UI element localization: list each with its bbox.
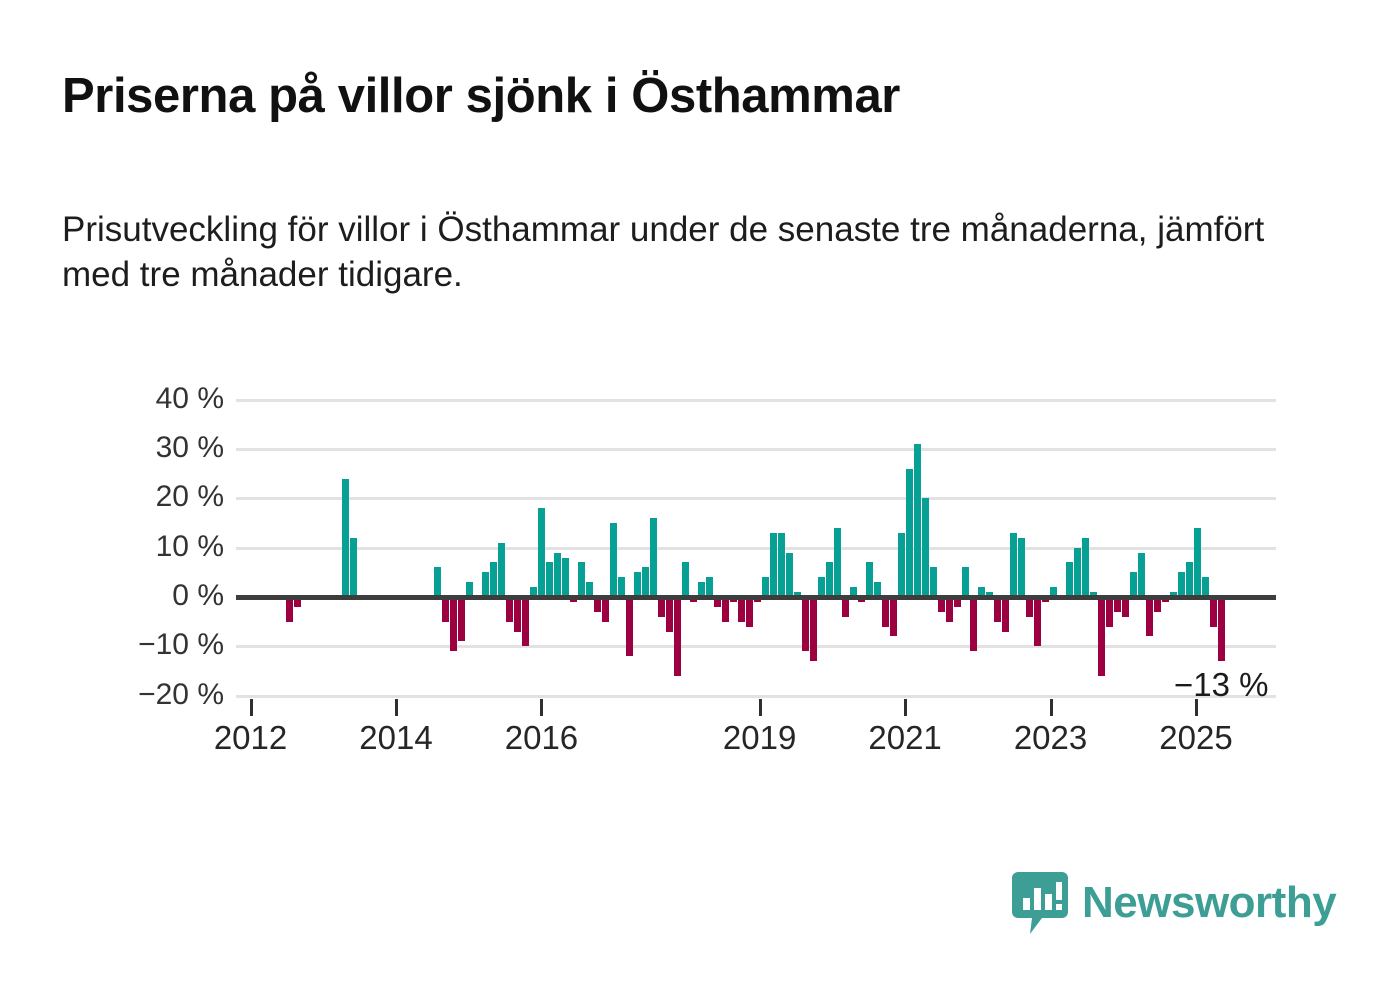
chart-bar xyxy=(482,572,489,597)
chart-bar xyxy=(1002,597,1009,632)
chart-bar xyxy=(890,597,897,636)
chart-bar xyxy=(786,553,793,597)
zero-axis-line xyxy=(236,595,1276,600)
chart-bar xyxy=(1194,528,1201,597)
chart-bar xyxy=(350,538,357,597)
chart-bar xyxy=(514,597,521,632)
chart-bar xyxy=(810,597,817,661)
chart-bar xyxy=(962,567,969,597)
chart-bar xyxy=(722,597,729,622)
chart-bar xyxy=(642,567,649,597)
chart-bar xyxy=(994,597,1001,622)
chart-canvas: Priserna på villor sjönk i Östhammar Pri… xyxy=(0,0,1382,999)
chart-bar xyxy=(554,553,561,597)
chart-bar xyxy=(650,518,657,597)
chart-bar xyxy=(490,562,497,597)
chart-bar xyxy=(506,597,513,622)
chart-bar xyxy=(746,597,753,627)
chart-bar xyxy=(1178,572,1185,597)
chart-bar xyxy=(834,528,841,597)
chart-bar xyxy=(930,567,937,597)
last-value-annotation: −13 % xyxy=(1174,666,1269,704)
chart-bar xyxy=(1138,553,1145,597)
chart-bar xyxy=(946,597,953,622)
chart-bar xyxy=(914,444,921,597)
chart-bar xyxy=(866,562,873,597)
chart-bar xyxy=(1130,572,1137,597)
chart-bar xyxy=(1218,597,1225,661)
chart-bar xyxy=(546,562,553,597)
chart-bar xyxy=(738,597,745,622)
chart-bar xyxy=(634,572,641,597)
chart-bar xyxy=(1146,597,1153,636)
chart-bar xyxy=(610,523,617,597)
chart-bar xyxy=(1018,538,1025,597)
chart-bar xyxy=(1010,533,1017,597)
chart-bar xyxy=(1074,548,1081,597)
chart-bar xyxy=(1034,597,1041,646)
chart-bar xyxy=(1186,562,1193,597)
plot-area: 40 %30 %20 %10 %0 %−10 %−20 % 2012201420… xyxy=(0,0,1382,999)
chart-bar xyxy=(286,597,293,622)
chart-bar xyxy=(522,597,529,646)
chart-bar xyxy=(922,498,929,597)
chart-bar xyxy=(626,597,633,656)
chart-bar xyxy=(538,508,545,597)
chart-bar xyxy=(898,533,905,597)
bars-group xyxy=(0,0,1382,999)
chart-bar xyxy=(826,562,833,597)
chart-bar xyxy=(906,469,913,597)
chart-bar xyxy=(666,597,673,632)
chart-bar xyxy=(1210,597,1217,627)
chart-bar xyxy=(970,597,977,651)
chart-bar xyxy=(434,567,441,597)
chart-bar xyxy=(442,597,449,622)
chart-bar xyxy=(682,562,689,597)
chart-bar xyxy=(1066,562,1073,597)
chart-bar xyxy=(1098,597,1105,676)
chart-bar xyxy=(498,543,505,597)
chart-bar xyxy=(770,533,777,597)
chart-bar xyxy=(458,597,465,641)
chart-bar xyxy=(562,558,569,597)
chart-bar xyxy=(802,597,809,651)
chart-bar xyxy=(578,562,585,597)
chart-bar xyxy=(342,479,349,597)
chart-bar xyxy=(1106,597,1113,627)
chart-bar xyxy=(778,533,785,597)
chart-bar xyxy=(1082,538,1089,597)
chart-bar xyxy=(674,597,681,676)
chart-bar xyxy=(602,597,609,622)
chart-bar xyxy=(450,597,457,651)
chart-bar xyxy=(882,597,889,627)
